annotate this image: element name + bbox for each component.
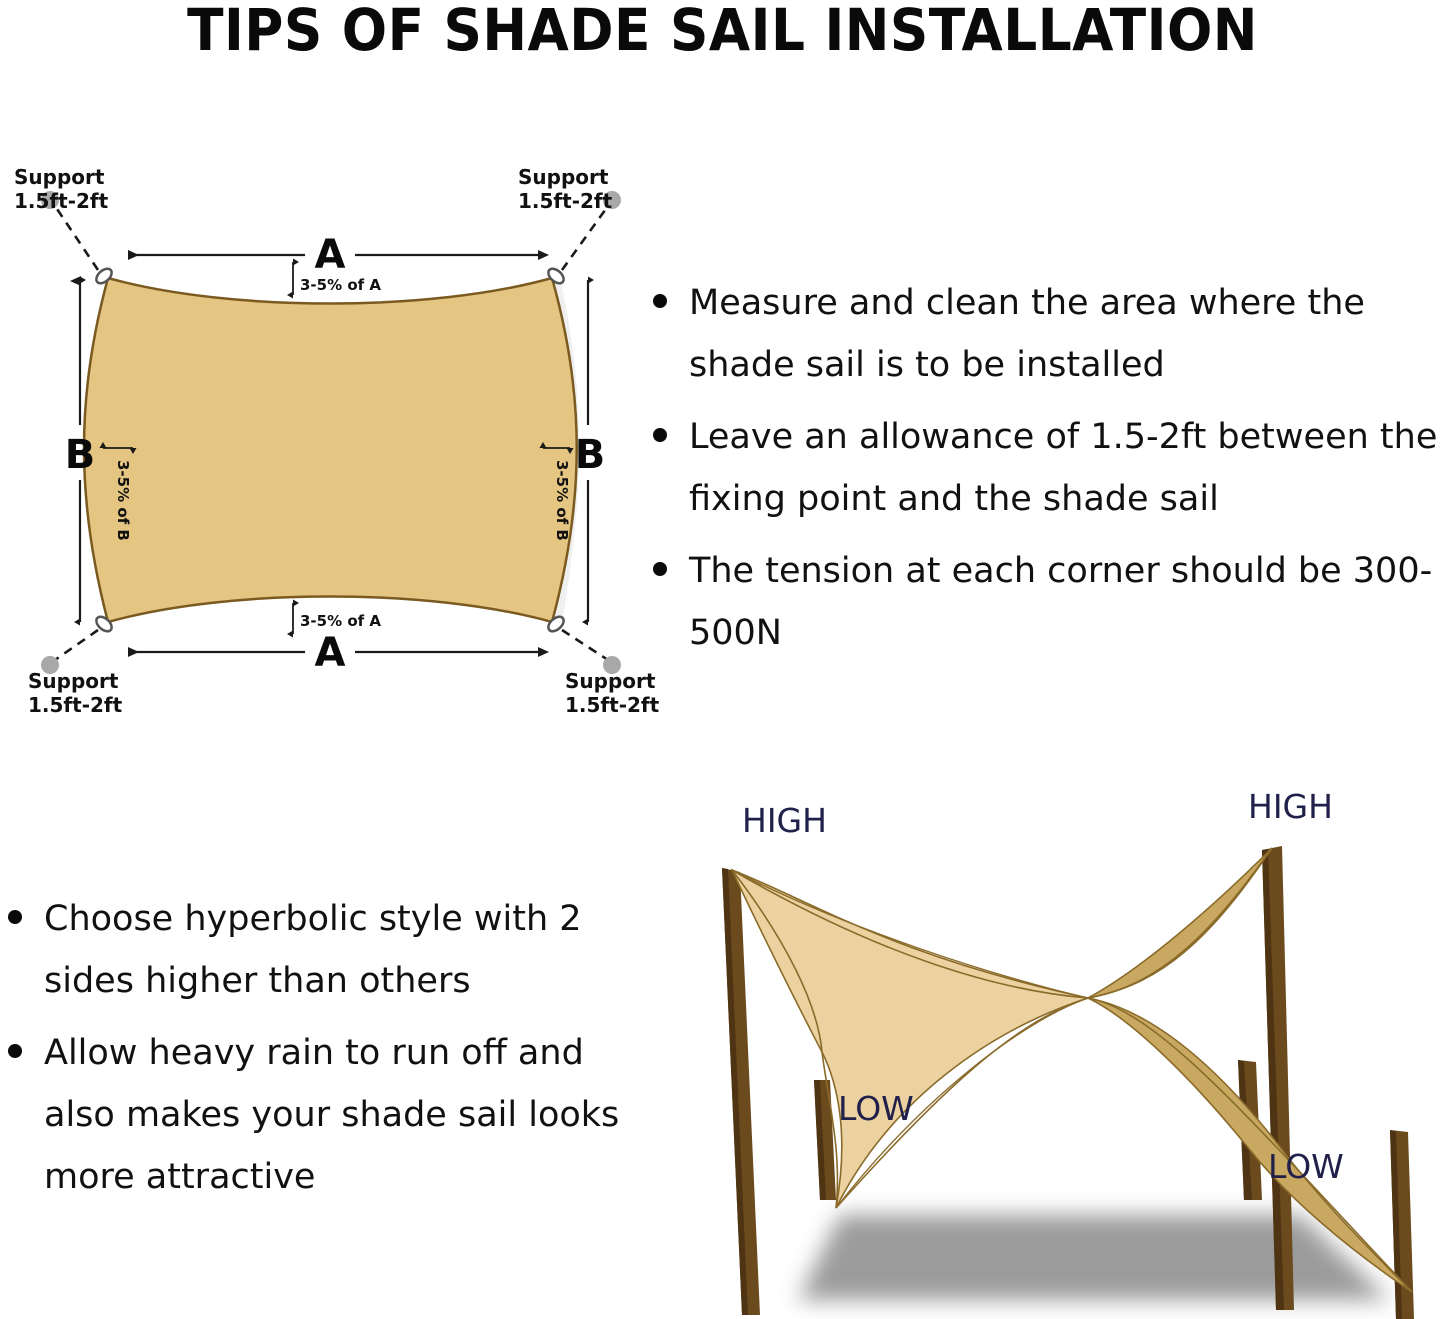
curvature-right-label: 3-5% of B [553,460,571,541]
list-item-text: Allow heavy rain to run off and also mak… [44,1033,619,1197]
list-item: The tension at each corner should be 300… [645,540,1445,664]
curvature-top-label: 3-5% of A [300,276,381,294]
dimension-a-top-label: A [315,232,346,278]
support-label-line2: 1.5ft-2ft [28,693,123,717]
page-title: TIPS OF SHADE SAIL INSTALLATION [58,0,1387,60]
label-high-left: HIGH [742,801,827,840]
bullet-dot-icon [653,562,667,576]
list-item: Leave an allowance of 1.5-2ft between th… [645,406,1445,530]
support-label-top-left: Support 1.5ft-2ft [14,165,109,213]
list-item: Measure and clean the area where the sha… [645,272,1445,396]
bullet-dot-icon [653,428,667,442]
list-item: Allow heavy rain to run off and also mak… [0,1022,625,1208]
bullet-dot-icon [8,910,22,924]
support-label-top-right: Support 1.5ft-2ft [518,165,613,213]
list-item: Choose hyperbolic style with 2 sides hig… [0,888,625,1012]
support-label-line2: 1.5ft-2ft [14,189,109,213]
support-label-bottom-right: Support 1.5ft-2ft [565,669,660,717]
support-label-line1: Support [518,165,609,189]
label-low-right: LOW [1268,1147,1344,1186]
list-item-text: Choose hyperbolic style with 2 sides hig… [44,899,582,1001]
list-item-text: Leave an allowance of 1.5-2ft between th… [689,417,1437,519]
sail-shape [84,278,577,622]
list-item-text: The tension at each corner should be 300… [689,551,1432,653]
rectangular-sail-diagram: Support 1.5ft-2ft Support 1.5ft-2ft Supp… [0,160,660,740]
post-low-left [814,1080,836,1200]
support-label-line1: Support [28,669,119,693]
bullet-dot-icon [8,1044,22,1058]
hyperbolic-sail-diagram: HIGH HIGH LOW LOW [690,780,1445,1319]
support-label-line2: 1.5ft-2ft [518,189,613,213]
curvature-bottom-label: 3-5% of A [300,612,381,630]
support-label-line1: Support [565,669,656,693]
ground-shadow [798,1215,1390,1300]
support-label-line2: 1.5ft-2ft [565,693,660,717]
dimension-b-right-label: B [575,432,606,478]
installation-tips-list-top: Measure and clean the area where the sha… [645,272,1445,674]
installation-tips-list-bottom: Choose hyperbolic style with 2 sides hig… [0,888,625,1218]
curvature-left-label: 3-5% of B [114,460,132,541]
sail-front-lobe [732,870,1088,1208]
label-low-left: LOW [838,1089,914,1128]
label-high-right: HIGH [1248,787,1333,826]
dimension-b-left-label: B [65,432,96,478]
bullet-dot-icon [653,294,667,308]
dimension-a-bottom-label: A [315,630,346,676]
list-item-text: Measure and clean the area where the sha… [689,283,1365,385]
support-label-line1: Support [14,165,105,189]
post-high-left [722,868,760,1315]
support-label-bottom-left: Support 1.5ft-2ft [28,669,123,717]
